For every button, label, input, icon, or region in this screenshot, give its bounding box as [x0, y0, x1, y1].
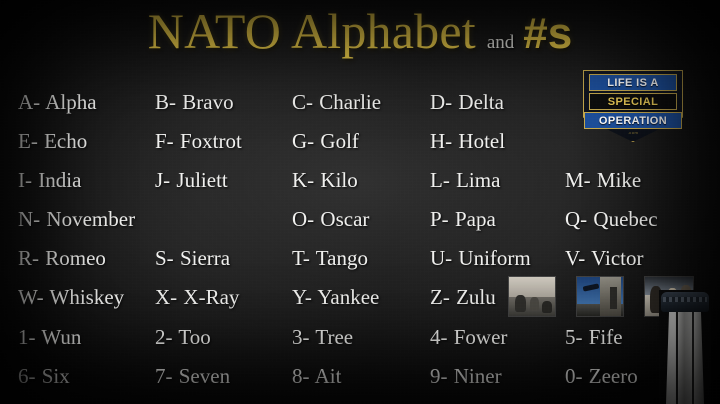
- entry-word: X-Ray: [178, 285, 239, 309]
- photo-aircraft-thumbnail: [576, 276, 624, 317]
- alphabet-entry-z: Z- Zulu: [430, 287, 496, 308]
- thumb-figure-b: [530, 297, 539, 311]
- alphabet-entry-m: M- Mike: [565, 170, 641, 191]
- entry-code: T-: [292, 246, 310, 270]
- badge-tagline: .com: [583, 130, 683, 135]
- entry-word: Foxtrot: [175, 129, 242, 153]
- entry-word: Tango: [311, 246, 368, 270]
- entry-code: E-: [18, 129, 38, 153]
- entry-code: 4-: [430, 325, 448, 349]
- entry-code: K-: [292, 168, 314, 192]
- entry-word: Bravo: [177, 90, 234, 114]
- entry-code: A-: [18, 90, 40, 114]
- thumb-structure-shadow: [610, 287, 617, 309]
- entry-word: Golf: [315, 129, 359, 153]
- entry-code: J-: [155, 168, 170, 192]
- tower-cap: [661, 292, 709, 312]
- entry-code: C-: [292, 90, 313, 114]
- alphabet-entry-y: Y- Yankee: [292, 287, 379, 308]
- entry-code: H-: [430, 129, 452, 153]
- alphabet-entry-u: U- Uniform: [430, 248, 531, 269]
- title-main-text: NATO Alphabet: [148, 6, 476, 56]
- entry-code: 0-: [565, 364, 583, 388]
- alphabet-entry-j: J- Juliett: [155, 170, 228, 191]
- photo-soldiers-thumbnail: [508, 276, 556, 317]
- entry-word: Ait: [311, 364, 342, 388]
- entry-word: Hotel: [453, 129, 505, 153]
- alphabet-entry-9: 9- Niner: [430, 366, 502, 387]
- alphabet-entry-k: K- Kilo: [292, 170, 358, 191]
- entry-word: Victor: [586, 246, 643, 270]
- alphabet-entry-7: 7- Seven: [155, 366, 230, 387]
- entry-code: M-: [565, 168, 591, 192]
- entry-code: W-: [18, 285, 44, 309]
- entry-word: Charlie: [314, 90, 381, 114]
- entry-code: 2-: [155, 325, 173, 349]
- entry-word: Lima: [451, 168, 501, 192]
- title-conjunction-text: and: [487, 32, 514, 54]
- entry-word: Yankee: [313, 285, 380, 309]
- entry-word: Juliett: [171, 168, 228, 192]
- alphabet-entry-g: G- Golf: [292, 131, 359, 152]
- alphabet-entry-8: 8- Ait: [292, 366, 341, 387]
- entry-code: Q-: [565, 207, 587, 231]
- entry-word: Sierra: [175, 246, 230, 270]
- entry-code: 1-: [18, 325, 36, 349]
- entry-word: Six: [37, 364, 70, 388]
- entry-code: P-: [430, 207, 449, 231]
- entry-code: G-: [292, 129, 314, 153]
- alphabet-entry-0: 0- Zeero: [565, 366, 638, 387]
- entry-code: F-: [155, 129, 174, 153]
- entry-word: Quebec: [588, 207, 657, 231]
- alphabet-entry-l: L- Lima: [430, 170, 500, 191]
- alphabet-entry-w: W- Whiskey: [18, 287, 124, 308]
- entry-word: Alpha: [41, 90, 96, 114]
- entry-code: N-: [18, 207, 40, 231]
- alphabet-entry-o: O- Oscar: [292, 209, 369, 230]
- entry-code: B-: [155, 90, 176, 114]
- entry-code: 9-: [430, 364, 448, 388]
- thumb-figure-c: [542, 301, 552, 313]
- entry-word: Too: [174, 325, 211, 349]
- alphabet-entry-3: 3- Tree: [292, 327, 353, 348]
- alphabet-entry-e: E- Echo: [18, 131, 87, 152]
- alphabet-entry-i: I- India: [18, 170, 81, 191]
- entry-word: Fife: [584, 325, 623, 349]
- alphabet-entry-p: P- Papa: [430, 209, 496, 230]
- alphabet-entry-1: 1- Wun: [18, 327, 81, 348]
- life-is-a-special-operation-logo[interactable]: LIFE IS A SPECIAL OPERATION .com: [583, 70, 683, 142]
- entry-code: X-: [155, 285, 177, 309]
- badge-line-2: SPECIAL: [589, 93, 677, 110]
- nato-alphabet-slide: NATO Alphabet and #s A- AlphaB- BravoC- …: [0, 0, 720, 404]
- entry-word: Wun: [37, 325, 82, 349]
- badge-line-1: LIFE IS A: [589, 74, 677, 91]
- entry-code: O-: [292, 207, 314, 231]
- control-tower-photo: [659, 290, 711, 404]
- alphabet-entry-5: 5- Fife: [565, 327, 623, 348]
- alphabet-entry-t: T- Tango: [292, 248, 368, 269]
- entry-word: Papa: [450, 207, 496, 231]
- page-title: NATO Alphabet and #s: [0, 6, 720, 68]
- tower-seam-right: [692, 312, 694, 404]
- entry-code: L-: [430, 168, 450, 192]
- alphabet-entry-6: 6- Six: [18, 366, 70, 387]
- entry-word: Uniform: [453, 246, 531, 270]
- entry-code: S-: [155, 246, 174, 270]
- alphabet-entry-4: 4- Fower: [430, 327, 507, 348]
- entry-word: Whiskey: [45, 285, 125, 309]
- alphabet-entry-q: Q- Quebec: [565, 209, 658, 230]
- entry-word: India: [33, 168, 81, 192]
- alphabet-entry-f: F- Foxtrot: [155, 131, 242, 152]
- entry-code: Z-: [430, 285, 450, 309]
- alphabet-entry-h: H- Hotel: [430, 131, 505, 152]
- tower-cap-railing: [663, 297, 707, 302]
- title-suffix-text: #s: [523, 12, 572, 56]
- tower-shaft: [666, 311, 704, 404]
- entry-word: Niner: [449, 364, 502, 388]
- entry-code: U-: [430, 246, 452, 270]
- entry-code: V-: [565, 246, 585, 270]
- alphabet-entry-a: A- Alpha: [18, 92, 97, 113]
- entry-code: D-: [430, 90, 452, 114]
- alphabet-entry-r: R- Romeo: [18, 248, 106, 269]
- entry-code: 6-: [18, 364, 36, 388]
- entry-code: Y-: [292, 285, 312, 309]
- entry-word: Zulu: [451, 285, 496, 309]
- entry-word: Kilo: [315, 168, 358, 192]
- entry-word: Mike: [592, 168, 642, 192]
- entry-word: November: [41, 207, 135, 231]
- entry-code: 3-: [292, 325, 310, 349]
- entry-word: Tree: [311, 325, 354, 349]
- alphabet-entry-v: V- Victor: [565, 248, 644, 269]
- alphabet-entry-d: D- Delta: [430, 92, 504, 113]
- entry-word: Romeo: [40, 246, 106, 270]
- alphabet-entry-2: 2- Too: [155, 327, 211, 348]
- alphabet-entry-x: X- X-Ray: [155, 287, 239, 308]
- entry-code: I-: [18, 168, 32, 192]
- entry-code: 5-: [565, 325, 583, 349]
- alphabet-entry-b: B- Bravo: [155, 92, 234, 113]
- entry-code: R-: [18, 246, 39, 270]
- entry-word: Oscar: [315, 207, 369, 231]
- alphabet-entry-s: S- Sierra: [155, 248, 230, 269]
- entry-code: 7-: [155, 364, 173, 388]
- thumb-sky: [509, 277, 555, 297]
- entry-word: Delta: [453, 90, 504, 114]
- entry-code: 8-: [292, 364, 310, 388]
- alphabet-entry-n: N- November: [18, 209, 135, 230]
- alphabet-entry-c: C- Charlie: [292, 92, 381, 113]
- thumb-figure-a: [515, 295, 526, 312]
- tower-seam-left: [676, 312, 678, 404]
- entry-word: Echo: [39, 129, 87, 153]
- entry-word: Fower: [449, 325, 508, 349]
- badge-line-3: OPERATION: [584, 112, 682, 129]
- entry-word: Seven: [174, 364, 231, 388]
- entry-word: Zeero: [584, 364, 638, 388]
